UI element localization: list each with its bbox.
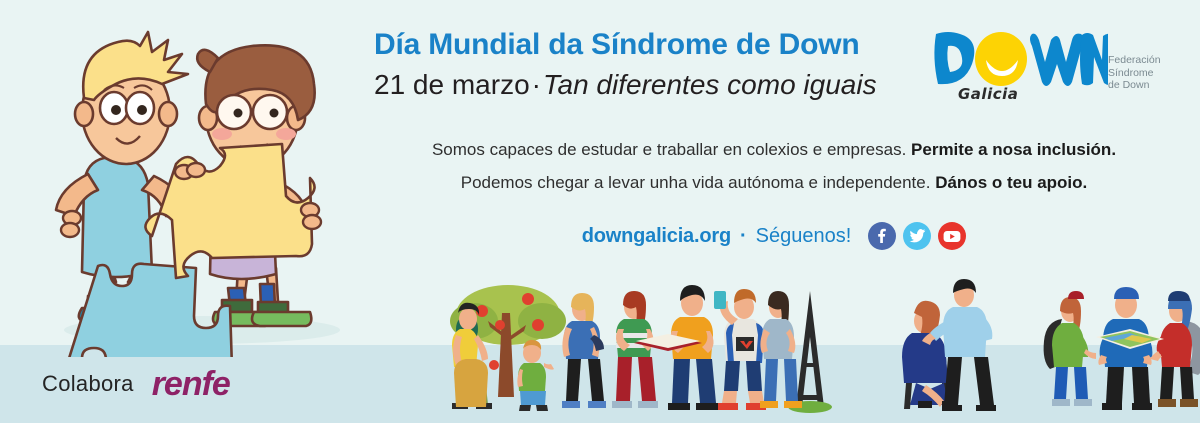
message-line-1: Somos capaces de estudar e traballar en … <box>374 138 1174 163</box>
federation-line-3: de Down <box>1108 79 1161 92</box>
website-link[interactable]: downgalicia.org <box>582 225 731 248</box>
social-icon-group <box>868 222 966 250</box>
web-and-social-row: downgalicia.org · Séguenos! <box>374 222 1174 250</box>
message-line-1-plain: Somos capaces de estudar e traballar en … <box>432 140 911 159</box>
message-copy: Somos capaces de estudar e traballar en … <box>374 138 1174 203</box>
headline-block: Día Mundial da Síndrome de Down 21 de ma… <box>374 28 914 101</box>
logo-region-label: Galicia <box>958 85 1018 103</box>
message-line-2-bold: Dános o teu apoio. <box>935 173 1087 192</box>
message-line-1-bold: Permite a nosa inclusión. <box>911 140 1116 159</box>
federation-line-2: Síndrome <box>1108 67 1161 80</box>
hero-illustration-two-characters-puzzle <box>30 12 370 357</box>
down-wordmark-icon <box>930 28 1105 88</box>
renfe-logo: renfe <box>152 367 230 401</box>
message-line-2-plain: Podemos chegar a levar unha vida autónom… <box>461 173 935 192</box>
sponsor-label: Colabora <box>42 371 134 397</box>
youtube-icon[interactable] <box>938 222 966 250</box>
page-title: Día Mundial da Síndrome de Down <box>374 28 914 63</box>
message-line-2: Podemos chegar a levar unha vida autónom… <box>374 171 1174 196</box>
event-slogan: Tan diferentes como iguais <box>543 69 877 100</box>
weblinks-separator: · <box>740 225 747 248</box>
headline-separator: · <box>530 69 543 100</box>
event-date: 21 de marzo <box>374 69 530 100</box>
federation-line-1: Federación <box>1108 54 1161 67</box>
sponsor-block: Colabora renfe <box>42 367 230 401</box>
facebook-icon[interactable] <box>868 222 896 250</box>
federation-label: Federación Síndrome de Down <box>1108 54 1161 92</box>
follow-us-label: Séguenos! <box>756 225 852 248</box>
down-galicia-banner: Día Mundial da Síndrome de Down 21 de ma… <box>0 0 1200 423</box>
headline-subtitle: 21 de marzo·Tan diferentes como iguais <box>374 69 914 101</box>
twitter-icon[interactable] <box>903 222 931 250</box>
down-galicia-logo[interactable]: Galicia Federación Síndrome de Down <box>930 28 1180 114</box>
lifestyle-scene-strip <box>396 277 1200 423</box>
